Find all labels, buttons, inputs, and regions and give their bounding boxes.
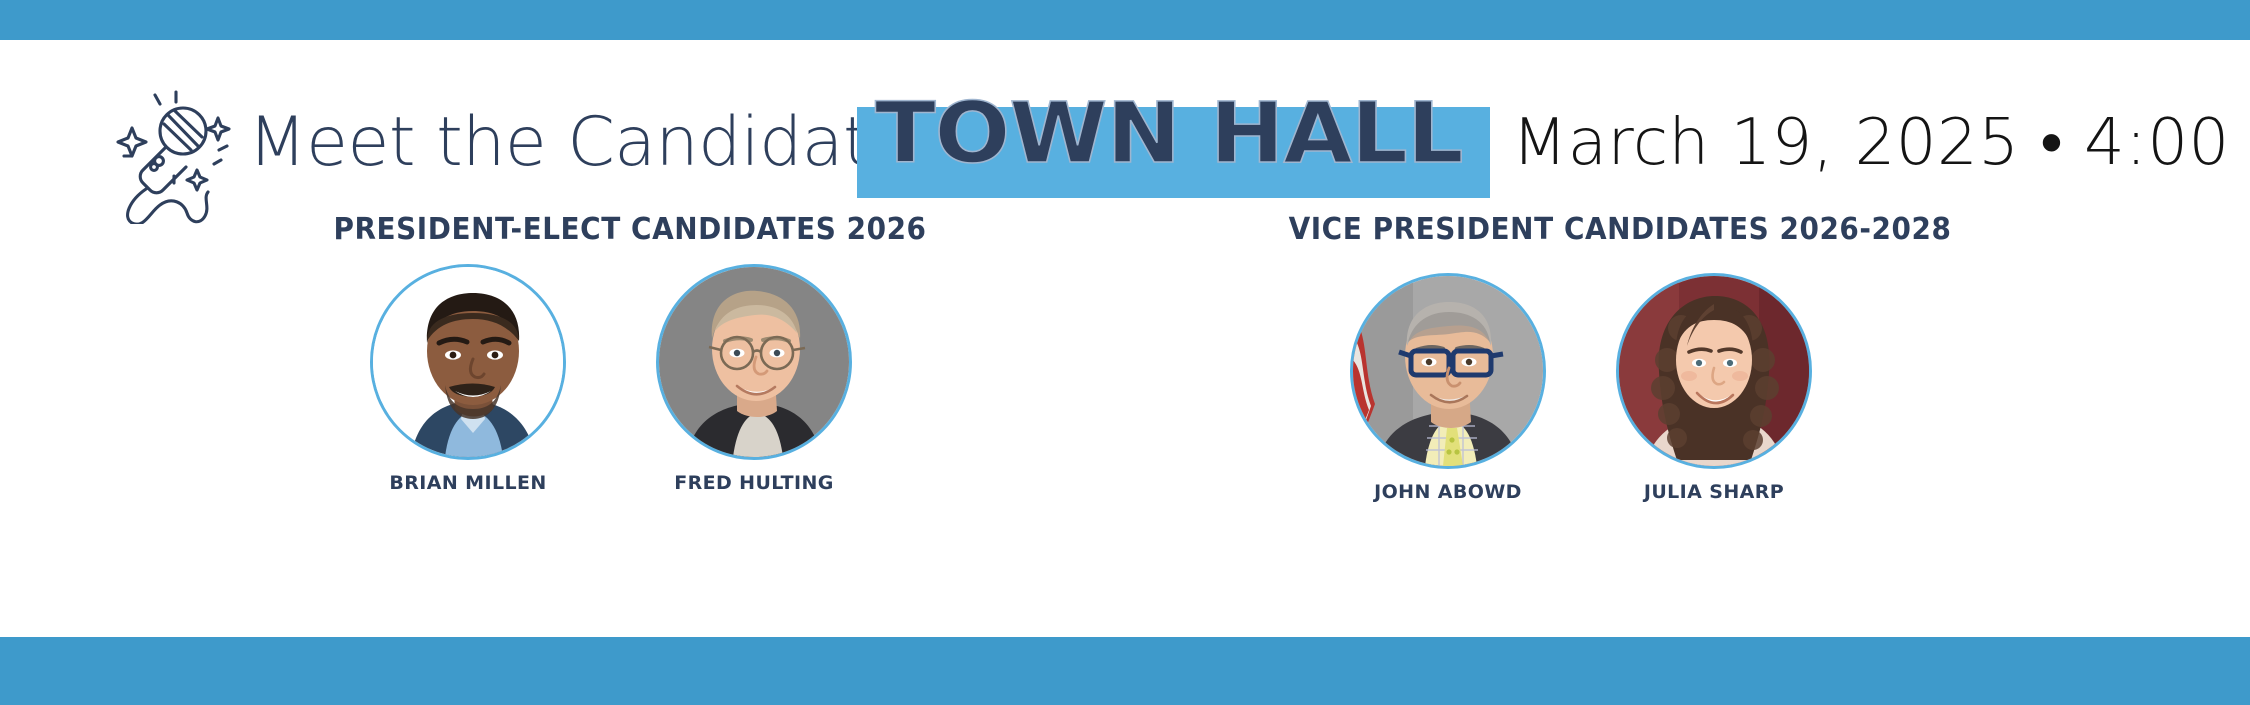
avatar [370, 264, 566, 460]
portrait-fred-hulting [659, 267, 849, 457]
bottom-accent-bar [0, 637, 2250, 705]
candidate-card[interactable]: FRED HULTING [656, 264, 852, 494]
avatar [1616, 273, 1812, 469]
candidate-name: FRED HULTING [656, 472, 852, 494]
portrait-julia-sharp [1619, 276, 1809, 466]
president-elect-heading: PRESIDENT-ELECT CANDIDATES 2026 [291, 212, 970, 247]
candidate-card[interactable]: JOHN ABOWD [1350, 273, 1546, 503]
page-title: Meet the Candidates [248, 98, 945, 188]
header: Meet the Candidates TOWN HALL March 19, … [0, 40, 2250, 180]
candidate-name: BRIAN MILLEN [370, 472, 566, 494]
portrait-brian-millen [373, 267, 563, 457]
portrait-john-abowd [1353, 276, 1543, 466]
candidate-card[interactable]: JULIA SHARP [1616, 273, 1812, 503]
candidate-name: JULIA SHARP [1616, 481, 1812, 503]
town-hall-label: TOWN HALL [875, 81, 1463, 185]
event-datetime: March 19, 2025 • 4:00 p.m. [1512, 98, 2250, 188]
candidate-card[interactable]: BRIAN MILLEN [370, 264, 566, 494]
avatar [656, 264, 852, 460]
president-elect-cards: BRIAN MILLEN [370, 264, 852, 494]
top-accent-bar [0, 0, 2250, 40]
vice-president-cards: JOHN ABOWD [1350, 273, 1812, 503]
vice-president-heading: VICE PRESIDENT CANDIDATES 2026-2028 [1234, 212, 2006, 247]
microphone-icon [98, 84, 248, 224]
candidate-name: JOHN ABOWD [1350, 481, 1546, 503]
avatar [1350, 273, 1546, 469]
